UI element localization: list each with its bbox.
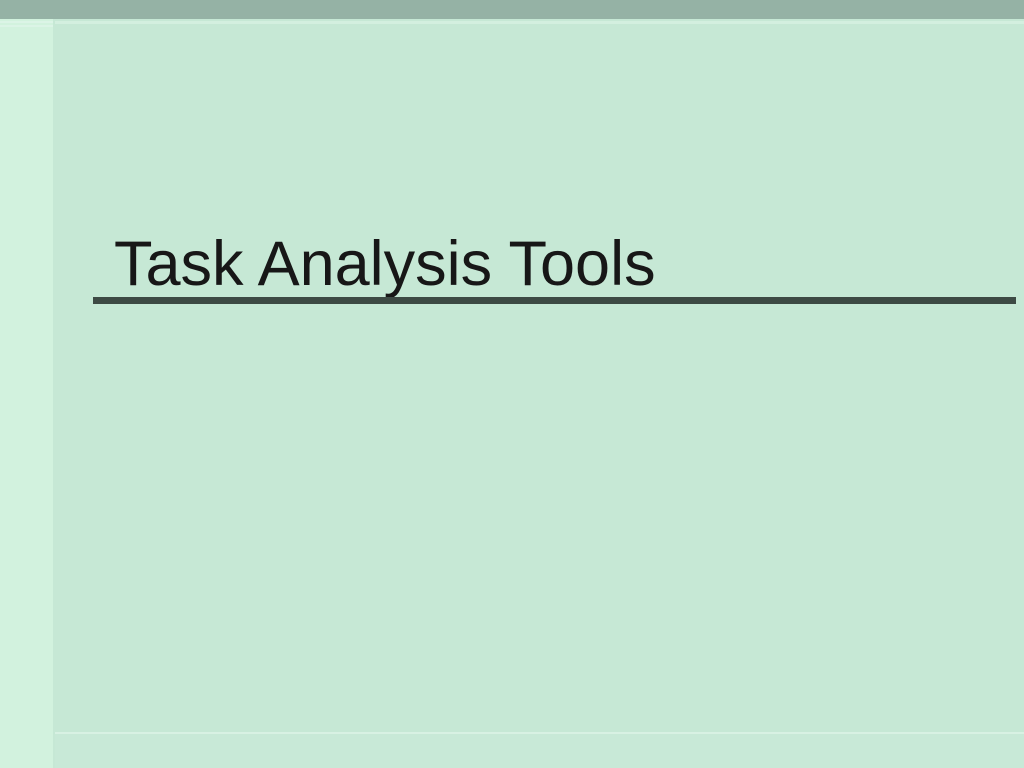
presentation-slide: Task Analysis Tools ERGONOMICS :: TRAIN-… — [0, 0, 1024, 768]
title-block: Task Analysis Tools — [93, 228, 1016, 308]
header-band — [0, 0, 1024, 19]
page-title: Task Analysis Tools — [114, 228, 656, 300]
header-hairline-left-upper — [0, 21, 53, 23]
title-underline-rule — [93, 297, 1016, 304]
left-accent-column — [0, 19, 53, 768]
header-hairline-main — [55, 21, 1024, 24]
header-hairline-left-lower — [0, 25, 53, 27]
footer-band: ERGONOMICS :: TRAIN-THE-TRAINER PROGRAM … — [55, 734, 1024, 768]
